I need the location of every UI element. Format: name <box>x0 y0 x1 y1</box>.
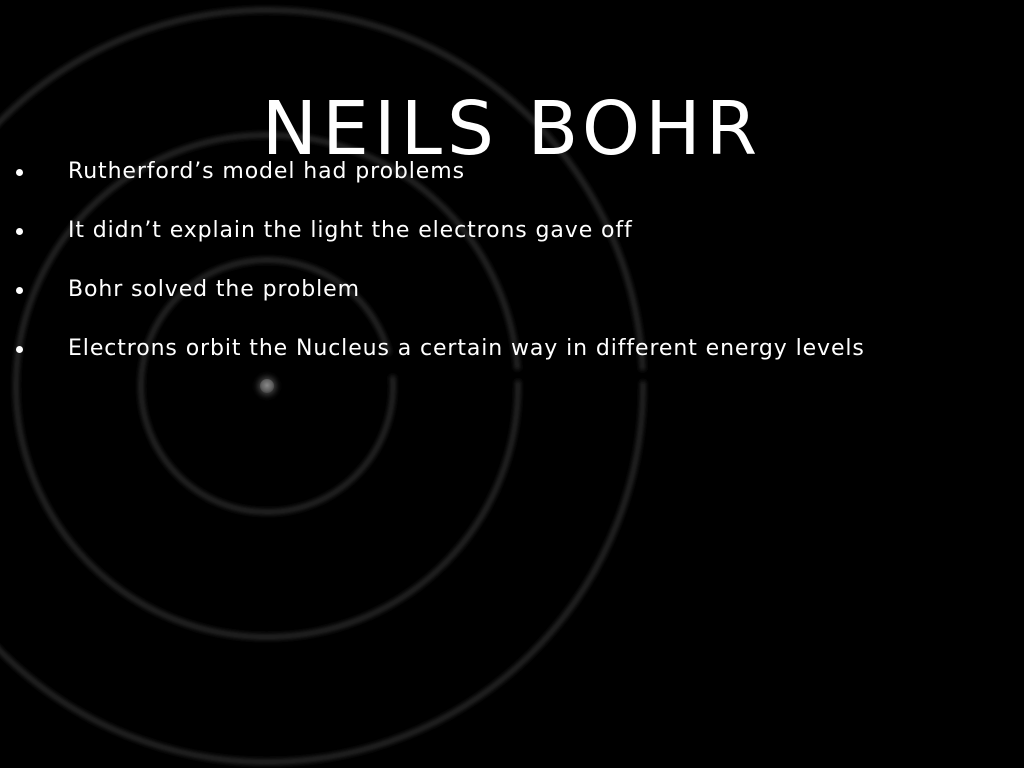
list-item-label: Bohr solved the problem <box>68 270 360 310</box>
slide-content: NEILS BOHR Rutherford’s model had proble… <box>0 0 1024 768</box>
bullet-list: Rutherford’s model had problems It didn’… <box>0 152 1024 388</box>
presentation-slide: NEILS BOHR Rutherford’s model had proble… <box>0 0 1024 768</box>
list-item-label: Electrons orbit the Nucleus a certain wa… <box>68 329 865 369</box>
list-item: Rutherford’s model had problems <box>0 152 1024 211</box>
list-item-label: It didn’t explain the light the electron… <box>68 211 633 251</box>
bullet-dot-icon <box>16 169 23 176</box>
bullet-dot-icon <box>16 287 23 294</box>
list-item-label: Rutherford’s model had problems <box>68 152 465 192</box>
bullet-dot-icon <box>16 228 23 235</box>
list-item: Electrons orbit the Nucleus a certain wa… <box>0 329 1024 388</box>
list-item: Bohr solved the problem <box>0 270 1024 329</box>
list-item: It didn’t explain the light the electron… <box>0 211 1024 270</box>
bullet-dot-icon <box>16 346 23 353</box>
